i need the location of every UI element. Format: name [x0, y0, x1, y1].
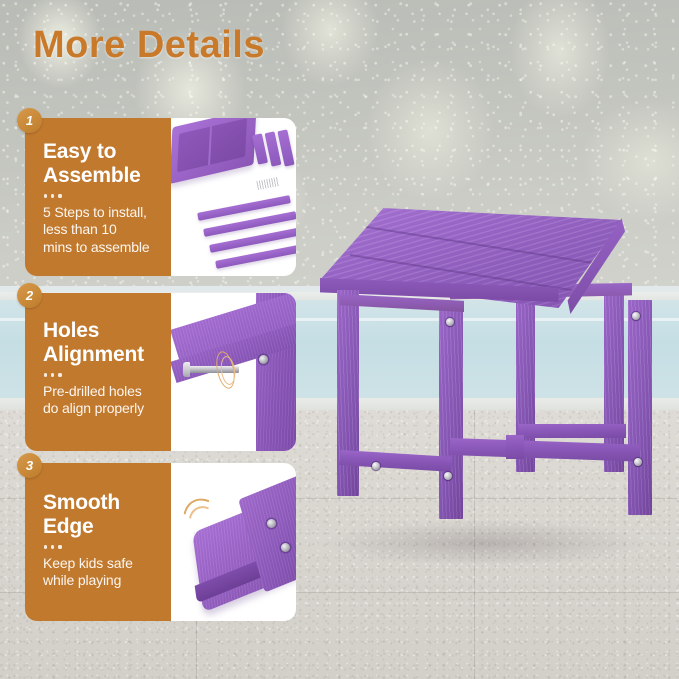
feature-card-subtitle: Keep kids safe while playing — [43, 555, 161, 590]
table-leg-front-right — [628, 300, 652, 515]
feature-title-line-2: Edge — [43, 515, 161, 539]
feature-card-subtitle: 5 Steps to install, less than 10 mins to… — [43, 204, 161, 257]
feature-card-subtitle: Pre-drilled holes do align properly — [43, 383, 161, 418]
screw-head — [444, 472, 452, 480]
feature-card-title: Easy to Assemble — [43, 140, 161, 187]
feature-photo-exploded-parts — [171, 118, 296, 276]
feature-sub-line-2: less than 10 — [43, 221, 161, 239]
screw-head — [632, 312, 640, 320]
screws-set — [256, 177, 279, 190]
feature-sub-line-2: while playing — [43, 572, 161, 590]
feature-sub-line-1: Keep kids safe — [43, 555, 161, 573]
table-stretcher-joint — [506, 435, 524, 459]
screw-head — [372, 462, 380, 470]
feature-title-line-1: Easy to — [43, 140, 161, 164]
feature-card-smooth-edge: 3 Smooth Edge Keep kids safe while playi… — [25, 463, 296, 621]
step-badge-2: 2 — [17, 283, 42, 308]
table-stretcher-back — [518, 424, 626, 438]
table-leg-front-center — [439, 303, 463, 519]
predrilled-hole-icon — [259, 355, 268, 364]
divider-dots-icon — [44, 545, 161, 548]
feature-card-text-panel: Smooth Edge Keep kids safe while playing — [25, 463, 171, 621]
feature-title-line-2: Assemble — [43, 164, 161, 188]
screw-head — [634, 458, 642, 466]
feature-title-line-1: Holes — [43, 319, 161, 343]
feature-card-easy-to-assemble: 1 Easy to Assemble 5 Steps to install, l… — [25, 118, 296, 276]
screw-head — [446, 318, 454, 326]
feature-title-line-2: Alignment — [43, 343, 161, 367]
feature-card-title: Smooth Edge — [43, 491, 161, 538]
product-side-table — [300, 190, 679, 610]
tabletop-panel-part — [171, 118, 256, 184]
table-shadow — [320, 520, 650, 566]
bolt-head — [183, 362, 190, 377]
page-title: More Details — [33, 24, 265, 67]
feature-card-text-panel: Easy to Assemble 5 Steps to install, les… — [25, 118, 171, 276]
divider-dots-icon — [44, 194, 161, 197]
feature-card-title: Holes Alignment — [43, 319, 161, 366]
feature-card-holes-alignment: 2 Holes Alignment Pre-drilled holes do a… — [25, 293, 296, 451]
feature-sub-line-1: 5 Steps to install, — [43, 204, 161, 222]
screw-head — [267, 519, 276, 528]
feature-sub-line-3: mins to assemble — [43, 239, 161, 257]
divider-dots-icon — [44, 373, 161, 376]
feature-photo-hole-alignment — [171, 293, 296, 451]
feature-sub-line-2: do align properly — [43, 400, 161, 418]
feature-sub-line-1: Pre-drilled holes — [43, 383, 161, 401]
feature-photo-smooth-edge — [171, 463, 296, 621]
feature-title-line-1: Smooth — [43, 491, 161, 515]
screw-head — [281, 543, 290, 552]
step-badge-3: 3 — [17, 453, 42, 478]
step-badge-1: 1 — [17, 108, 42, 133]
feature-card-text-panel: Holes Alignment Pre-drilled holes do ali… — [25, 293, 171, 451]
